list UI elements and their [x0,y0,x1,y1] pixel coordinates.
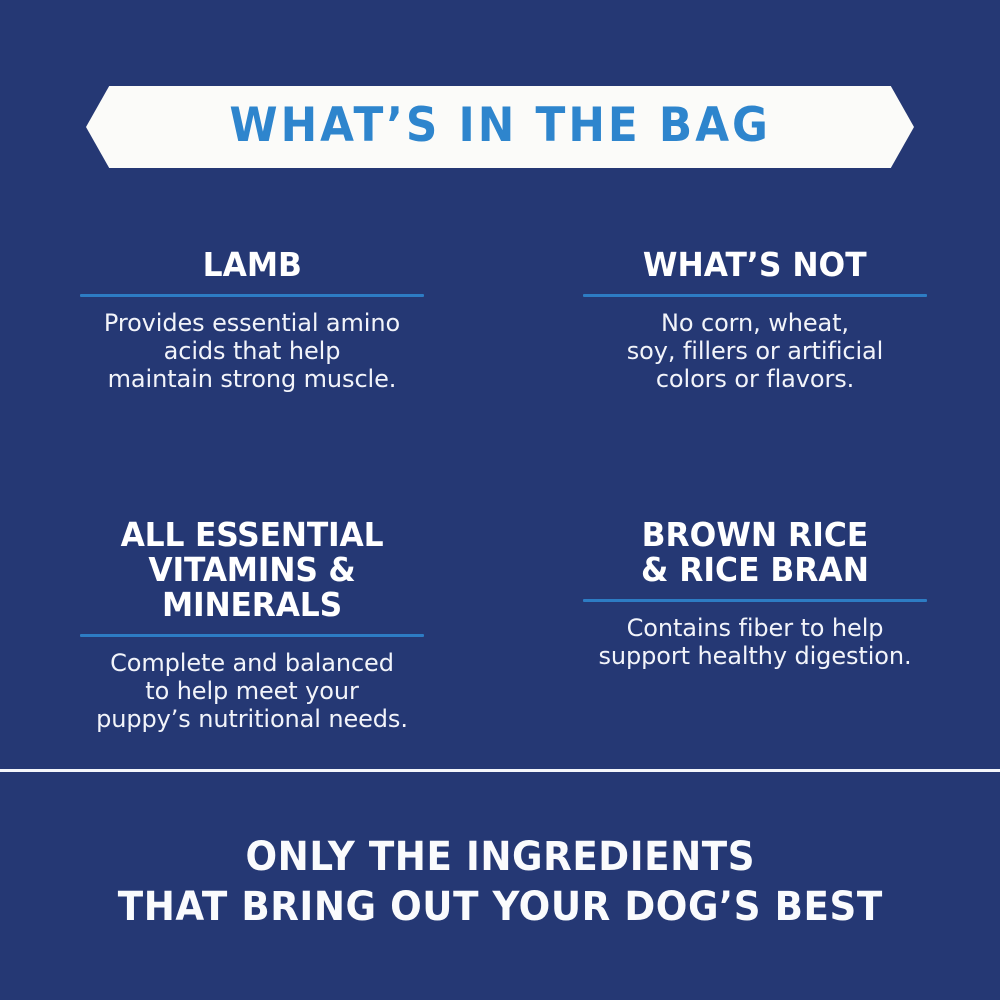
feature-card-lamb: LAMB Provides essential amino acids that… [0,248,500,498]
feature-body-vitamins-minerals: Complete and balanced to help meet your … [96,649,408,733]
feature-card-whats-not: WHAT’S NOT No corn, wheat, soy, fillers … [500,248,1000,498]
feature-grid: LAMB Provides essential amino acids that… [0,248,1000,733]
feature-divider-vitamins-minerals [80,634,424,637]
feature-card-vitamins-minerals: ALL ESSENTIAL VITAMINS & MINERALS Comple… [0,498,500,733]
feature-title-whats-not: WHAT’S NOT [643,248,867,283]
feature-title-vitamins-minerals: ALL ESSENTIAL VITAMINS & MINERALS [88,518,417,623]
feature-divider-whats-not [583,294,927,297]
chevron-banner-shape: WHAT’S IN THE BAG [86,86,914,168]
feature-divider-lamb [80,294,424,297]
footer-container: ONLY THE INGREDIENTS THAT BRING OUT YOUR… [0,833,1000,932]
feature-body-lamb: Provides essential amino acids that help… [104,309,400,393]
section-separator [0,769,1000,772]
banner-title: WHAT’S IN THE BAG [229,102,771,152]
feature-divider-brown-rice [583,599,927,602]
banner-container: WHAT’S IN THE BAG [0,86,1000,168]
footer-headline: ONLY THE INGREDIENTS THAT BRING OUT YOUR… [118,833,883,932]
feature-title-lamb: LAMB [202,248,301,283]
feature-body-brown-rice: Contains fiber to help support healthy d… [599,614,912,670]
feature-card-brown-rice: BROWN RICE & RICE BRAN Contains fiber to… [500,498,1000,733]
feature-body-whats-not: No corn, wheat, soy, fillers or artifici… [627,309,883,393]
whats-in-the-bag-infographic: WHAT’S IN THE BAG LAMB Provides essentia… [0,0,1000,1000]
feature-title-brown-rice: BROWN RICE & RICE BRAN [641,518,869,588]
